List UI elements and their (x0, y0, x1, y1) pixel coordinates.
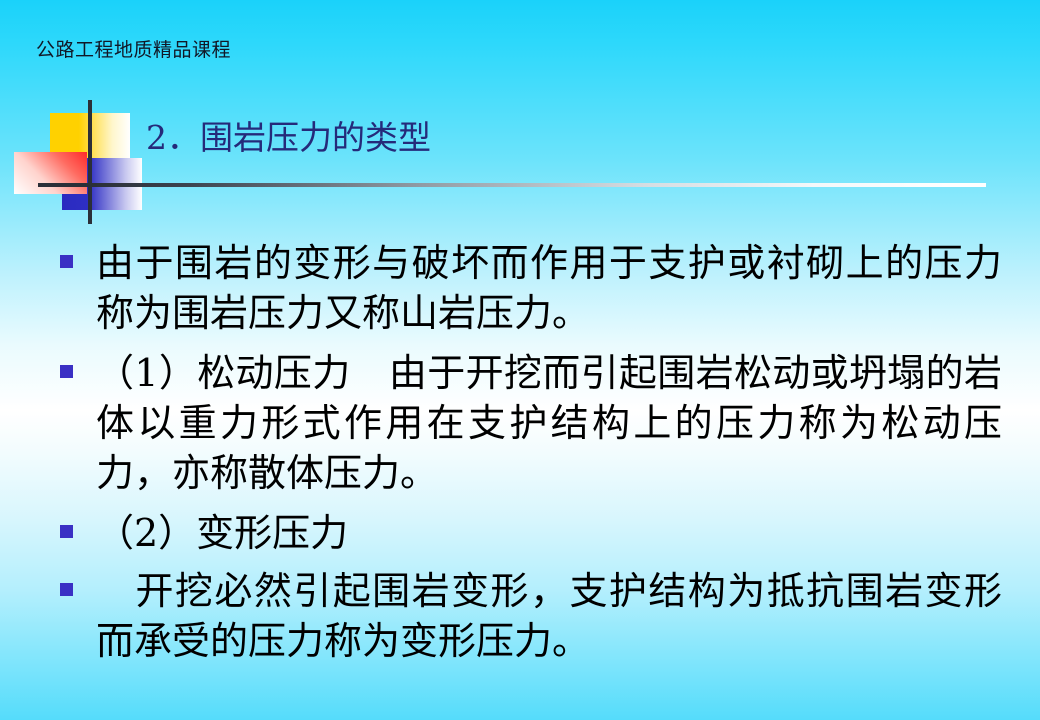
bullet-square-icon (60, 365, 73, 378)
list-item-text: 由于围岩的变形与破坏而作用于支护或衬砌上的压力称为围岩压力又称山岩压力。 (96, 238, 1002, 338)
decorative-graphic (0, 96, 210, 226)
bullet-square-icon (60, 255, 73, 268)
list-item: 开挖必然引起围岩变形，支护结构为抵抗围岩变形而承受的压力称为变形压力。 (52, 566, 1002, 666)
vertical-rule-icon (88, 100, 92, 224)
list-item: （2）变形压力 (52, 508, 1002, 558)
list-item-text: 开挖必然引起围岩变形，支护结构为抵抗围岩变形而承受的压力称为变形压力。 (96, 566, 1002, 666)
horizontal-rule-divider (38, 183, 986, 187)
red-rectangle-icon (14, 152, 87, 194)
bullet-square-icon (60, 583, 73, 596)
bullet-list: 由于围岩的变形与破坏而作用于支护或衬砌上的压力称为围岩压力又称山岩压力。 （1）… (52, 238, 1002, 666)
course-header-title: 公路工程地质精品课程 (36, 38, 231, 62)
list-item: （1）松动压力 由于开挖而引起围岩松动或坍塌的岩体以重力形式作用在支护结构上的压… (52, 348, 1002, 498)
slide-canvas: 公路工程地质精品课程 2．围岩压力的类型 由于围岩的变形与破坏而作用于支护或衬砌… (0, 0, 1040, 720)
slide-title: 2．围岩压力的类型 (146, 118, 431, 158)
bullet-square-icon (60, 525, 73, 538)
list-item: 由于围岩的变形与破坏而作用于支护或衬砌上的压力称为围岩压力又称山岩压力。 (52, 238, 1002, 338)
list-item-text: （2）变形压力 (96, 508, 1002, 558)
list-item-text: （1）松动压力 由于开挖而引起围岩松动或坍塌的岩体以重力形式作用在支护结构上的压… (96, 348, 1002, 498)
